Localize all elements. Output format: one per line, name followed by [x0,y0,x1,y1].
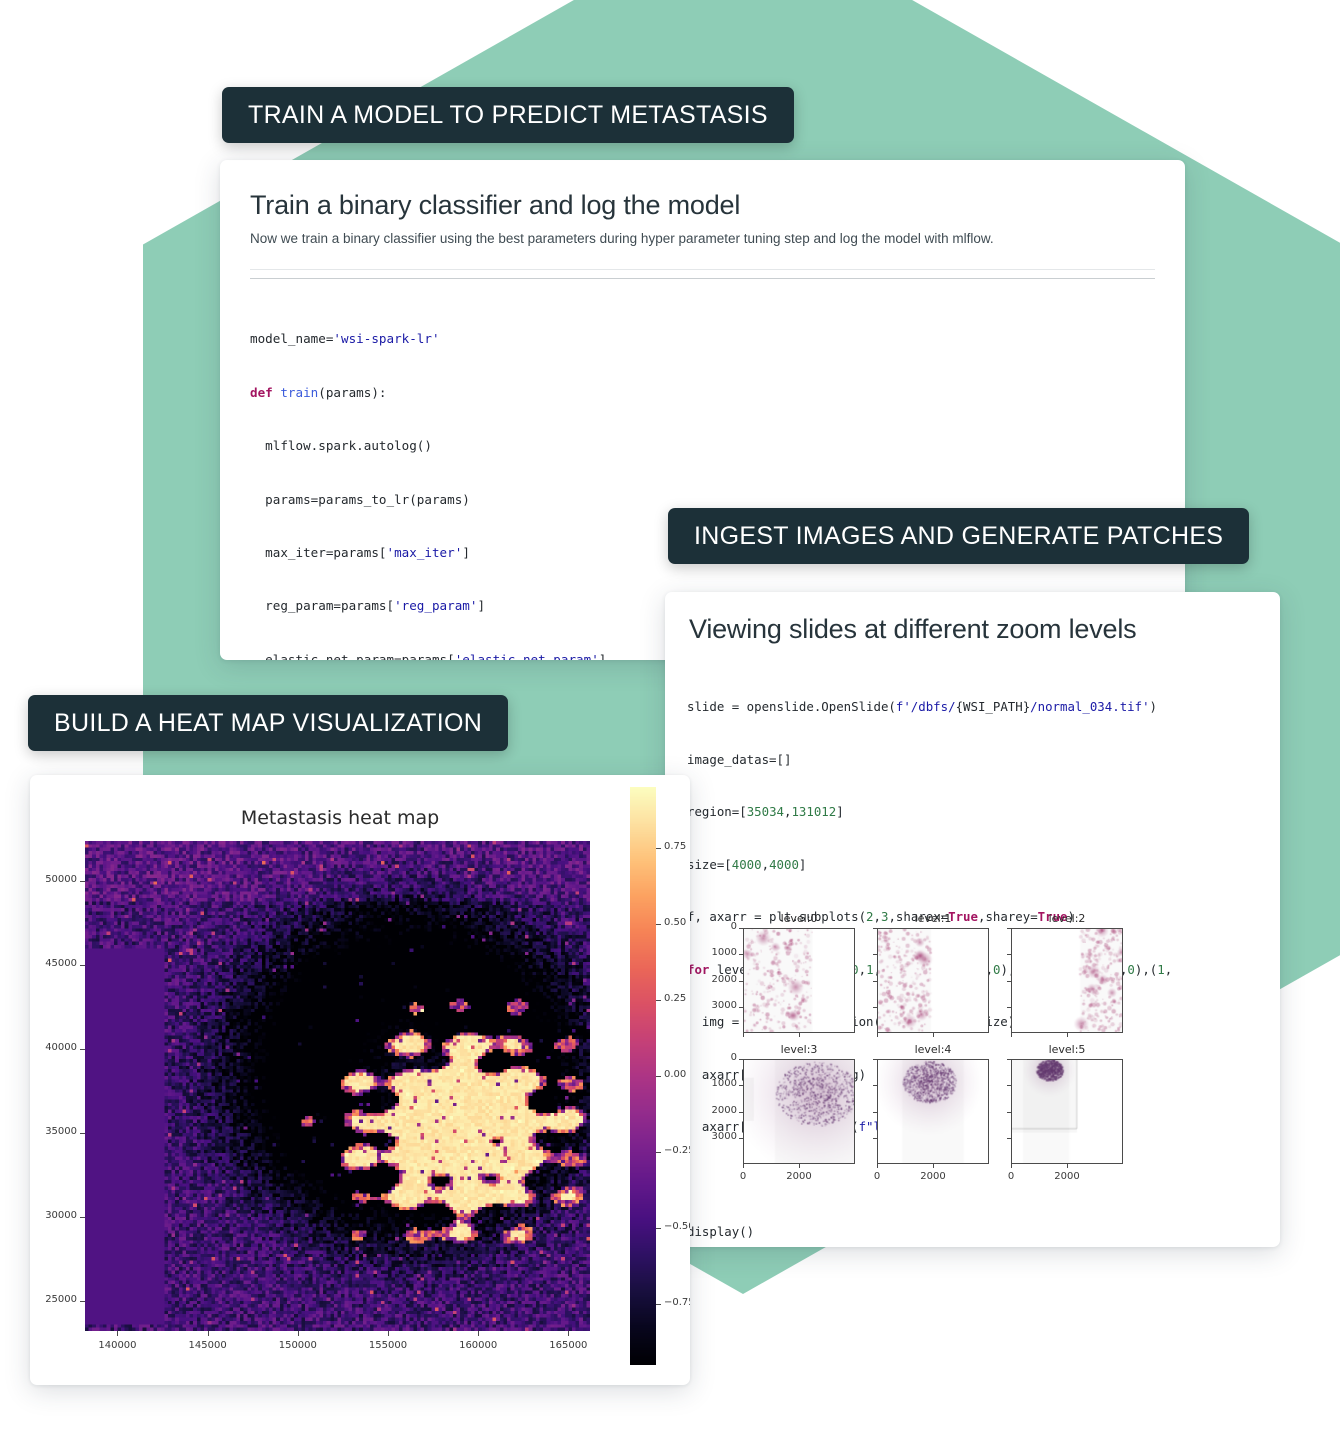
subplot-y-tick-mark [739,981,743,982]
heat-map-y-tick-label: 30000 [30,1210,77,1221]
subplot-x-tick-mark [1011,1164,1012,1168]
subplot-panel [743,928,855,1033]
subplot-y-tick-label: 3000 [699,1131,737,1142]
subplot-x-tick-mark [1011,1033,1012,1037]
subplot-panel [877,1059,989,1164]
heat-map-x-tick-label: 160000 [450,1340,506,1351]
heat-map-y-tick-label: 35000 [30,1126,77,1137]
heat-map-y-tick-label: 40000 [30,1042,77,1053]
code-line: region=[35034,131012] [687,803,1280,821]
heat-map-x-tick-label: 140000 [89,1340,145,1351]
subplot-x-tick-label: 2000 [909,1171,957,1182]
code-line: model_name='wsi-spark-lr' [250,330,1185,348]
subplot-y-tick-mark [873,1112,877,1113]
subplot-x-tick-mark [933,1033,934,1037]
subplot-x-tick-mark [799,1033,800,1037]
subplot-x-tick-mark [877,1164,878,1168]
heat-map-y-tick-mark [80,965,85,966]
badge-ingest-images[interactable]: INGEST IMAGES AND GENERATE PATCHES [668,508,1249,564]
card-heat-map: Metastasis heat map −0.75−0.50−0.250.000… [30,775,690,1385]
heat-map-x-tick-mark [388,1331,389,1336]
subplot-x-tick-mark [1067,1033,1068,1037]
subplot-y-tick-mark [873,1007,877,1008]
subplot-y-tick-mark [1007,1059,1011,1060]
colorbar-tick-mark [656,1076,661,1077]
colorbar-tick-mark [656,1228,661,1229]
subplot-title: level:3 [743,1043,855,1056]
subplot-y-tick-mark [1007,928,1011,929]
card-train-model: Train a binary classifier and log the mo… [220,160,1185,660]
subplot-title: level:0 [743,912,855,925]
subplot-y-tick-label: 0 [699,921,737,932]
subplot-y-tick-mark [873,1138,877,1139]
subplot-panel [1011,928,1123,1033]
subplot-x-tick-mark [799,1164,800,1168]
divider-top [250,269,1155,270]
heat-map-x-tick-mark [298,1331,299,1336]
heat-map-x-tick-mark [568,1331,569,1336]
code-line: def train(params): [250,384,1185,402]
code-line: size=[4000,4000] [687,856,1280,874]
subplot-y-tick-mark [1007,981,1011,982]
subplot-y-tick-mark [739,1059,743,1060]
colorbar-tick-label: −0.75 [664,1297,690,1308]
subplot-y-tick-label: 2000 [699,1105,737,1116]
subplot-y-tick-mark [739,928,743,929]
heat-map-y-tick-mark [80,881,85,882]
slide-levels-figure: level:00100020003000level:1level:2level:… [695,908,1255,1218]
subplot-y-tick-mark [739,1138,743,1139]
subplot-x-tick-label: 0 [987,1171,1035,1182]
subplot-title: level:4 [877,1043,989,1056]
subplot-panel [743,1059,855,1164]
subplot-x-tick-mark [933,1164,934,1168]
colorbar-tick-mark [656,924,661,925]
heat-map-y-tick-mark [80,1133,85,1134]
subplot-x-tick-mark [743,1164,744,1168]
subplot-y-tick-mark [1007,1085,1011,1086]
subplot-x-tick-mark [877,1033,878,1037]
code-line: image_datas=[] [687,751,1280,769]
badge-train-model-label: TRAIN A MODEL TO PREDICT METASTASIS [248,101,768,130]
badge-ingest-images-label: INGEST IMAGES AND GENERATE PATCHES [694,522,1223,551]
subplot-y-tick-mark [739,1112,743,1113]
heat-map-y-tick-label: 50000 [30,874,77,885]
colorbar-tick-mark [656,848,661,849]
code-line: mlflow.spark.autolog() [250,437,1185,455]
heat-map-x-tick-label: 145000 [180,1340,236,1351]
colorbar-tick-label: 0.00 [664,1069,686,1080]
heat-map-y-tick-mark [80,1301,85,1302]
subplot-y-tick-label: 3000 [699,1000,737,1011]
subplot-title: level:1 [877,912,989,925]
heat-map-figure: −0.75−0.50−0.250.000.250.500.75140000145… [30,775,690,1385]
subplot-y-tick-mark [873,1085,877,1086]
colorbar-tick-label: 0.75 [664,841,686,852]
colorbar-tick-mark [656,1000,661,1001]
heat-map-x-tick-mark [208,1331,209,1336]
code-line: display() [687,1223,1280,1241]
heat-map-x-tick-label: 155000 [360,1340,416,1351]
subplot-y-tick-mark [873,928,877,929]
subplot-y-tick-mark [739,1007,743,1008]
card-ingest-images: Viewing slides at different zoom levels … [665,592,1280,1247]
subplot-x-tick-label: 2000 [1043,1171,1091,1182]
subplot-y-tick-mark [739,1085,743,1086]
heat-map-x-tick-label: 150000 [270,1340,326,1351]
colorbar-tick-mark [656,1152,661,1153]
heat-map-x-tick-mark [117,1331,118,1336]
colorbar-tick-label: 0.25 [664,993,686,1004]
subplot-x-tick-mark [743,1033,744,1037]
poster-canvas: Train a binary classifier and log the mo… [0,0,1340,1440]
heat-map-y-tick-label: 25000 [30,1294,77,1305]
subplot-title: level:2 [1011,912,1123,925]
subplot-y-tick-mark [1007,954,1011,955]
heat-map-canvas [85,841,590,1331]
badge-train-model[interactable]: TRAIN A MODEL TO PREDICT METASTASIS [222,87,794,143]
subplot-y-tick-mark [1007,1007,1011,1008]
subplot-x-tick-label: 2000 [775,1171,823,1182]
heat-map-colorbar [630,787,656,1365]
subplot-y-tick-mark [1007,1138,1011,1139]
code-line: params=params_to_lr(params) [250,491,1185,509]
colorbar-tick-label: −0.25 [664,1145,690,1156]
subplot-y-tick-mark [873,1059,877,1060]
subplot-x-tick-mark [1067,1164,1068,1168]
heat-map-x-tick-label: 165000 [540,1340,596,1351]
card-ingest-heading: Viewing slides at different zoom levels [689,614,1280,645]
heat-map-y-tick-label: 45000 [30,958,77,969]
badge-heat-map-label: BUILD A HEAT MAP VISUALIZATION [54,709,482,738]
heat-map-x-tick-mark [478,1331,479,1336]
subplot-y-tick-label: 0 [699,1052,737,1063]
subplot-x-tick-label: 0 [719,1171,767,1182]
subplot-title: level:5 [1011,1043,1123,1056]
subplot-panel [1011,1059,1123,1164]
subplot-y-tick-label: 2000 [699,974,737,985]
colorbar-tick-label: 0.50 [664,917,686,928]
subplot-y-tick-mark [873,981,877,982]
code-line: slide = openslide.OpenSlide(f'/dbfs/{WSI… [687,698,1280,716]
colorbar-tick-label: −0.50 [664,1221,690,1232]
subplot-y-tick-mark [739,954,743,955]
colorbar-tick-mark [656,1304,661,1305]
heat-map-y-tick-mark [80,1217,85,1218]
card-train-subtitle: Now we train a binary classifier using t… [250,230,1155,249]
subplot-y-tick-mark [1007,1112,1011,1113]
subplot-y-tick-mark [873,954,877,955]
subplot-panel [877,928,989,1033]
card-train-heading: Train a binary classifier and log the mo… [250,190,1155,221]
subplot-x-tick-label: 0 [853,1171,901,1182]
subplot-y-tick-label: 1000 [699,1078,737,1089]
heat-map-y-tick-mark [80,1049,85,1050]
subplot-y-tick-label: 1000 [699,947,737,958]
badge-heat-map[interactable]: BUILD A HEAT MAP VISUALIZATION [28,695,508,751]
